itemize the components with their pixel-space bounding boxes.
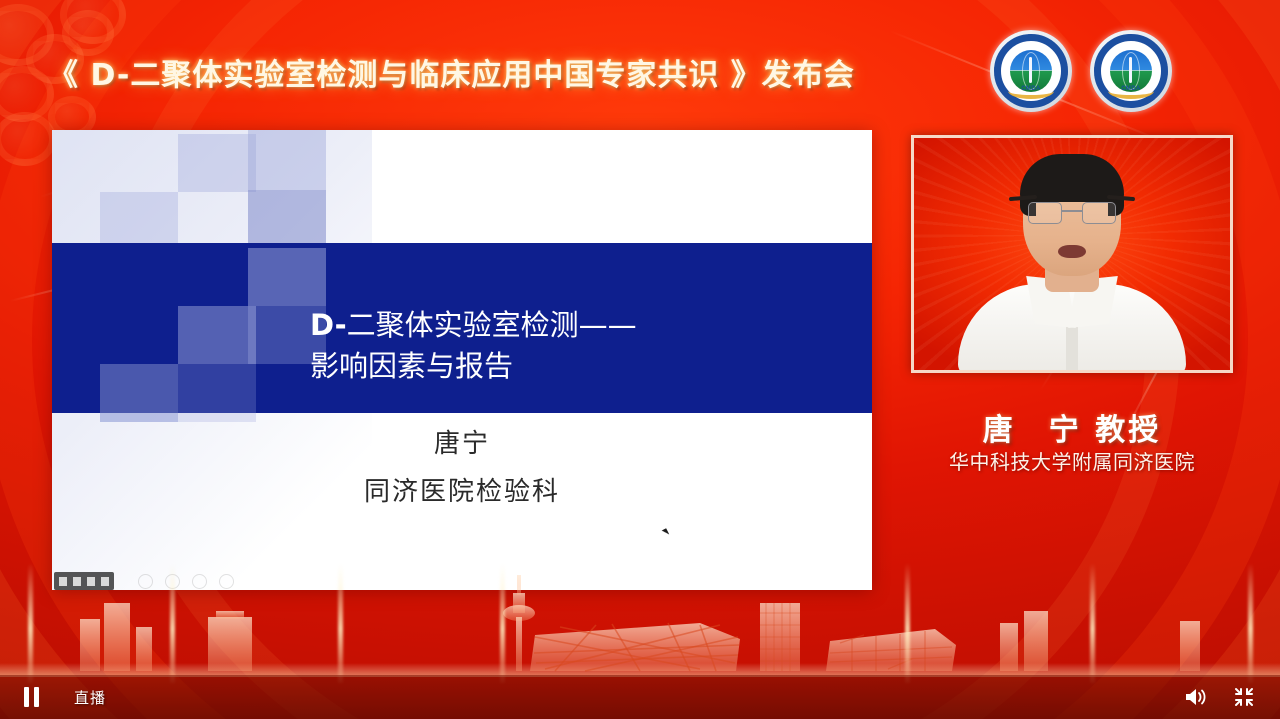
logo-abbr: CMDA bbox=[1090, 86, 1172, 92]
pause-bar-right bbox=[34, 687, 39, 707]
slide-title: D-二聚体实验室检测—— 影响因素与报告 bbox=[310, 305, 850, 387]
stage-light-column bbox=[1090, 563, 1095, 683]
glasses-lens-left bbox=[1028, 202, 1062, 224]
speaker-affiliation: 华中科技大学附属同济医院 bbox=[891, 446, 1253, 475]
slide-presenter-name: 唐宁 bbox=[52, 420, 872, 468]
speaker-mouth bbox=[1058, 245, 1086, 258]
slide-next-icon[interactable] bbox=[87, 577, 95, 586]
slide-prev-icon[interactable] bbox=[73, 577, 81, 586]
serpent-staff-icon bbox=[1029, 57, 1032, 83]
blood-cell-motif bbox=[60, 0, 126, 44]
grid-icon bbox=[165, 574, 180, 589]
speaker-video-panel[interactable] bbox=[911, 135, 1233, 373]
blood-cell-motif bbox=[0, 112, 56, 166]
stage-light-column bbox=[905, 563, 910, 683]
glasses-bridge bbox=[1062, 210, 1082, 212]
deco-square bbox=[248, 130, 326, 190]
slide-title-line-1: D-二聚体实验室检测—— bbox=[310, 305, 850, 346]
presentation-slide[interactable]: D-二聚体实验室检测—— 影响因素与报告 唐宁 同济医院检验科 bbox=[52, 130, 872, 590]
mouse-cursor bbox=[662, 528, 670, 537]
deco-square bbox=[178, 134, 256, 192]
live-status-label: 直播 bbox=[74, 687, 106, 708]
stage-light-column bbox=[1248, 563, 1253, 683]
slide-title-line-1-rest: 二聚体实验室检测—— bbox=[347, 308, 637, 342]
deco-square bbox=[248, 190, 326, 248]
association-logo-left: CMDA bbox=[990, 30, 1072, 112]
zoom-icon bbox=[192, 574, 207, 589]
player-right-controls bbox=[1184, 687, 1264, 707]
deco-square-overlay bbox=[178, 306, 256, 364]
slide-menu-icon[interactable] bbox=[101, 577, 109, 586]
speaker-figure bbox=[947, 160, 1197, 370]
live-stream-stage: 《 D-二聚体实验室检测与临床应用中国专家共识 》发布会 CMDA CMDA bbox=[0, 0, 1280, 719]
slide-thumbnails-icon[interactable] bbox=[59, 577, 67, 586]
deco-square-overlay bbox=[178, 364, 256, 422]
video-player-controls: 直播 bbox=[0, 675, 1280, 719]
ppt-ghost-icon-row bbox=[138, 574, 234, 589]
slide-accent-square bbox=[52, 287, 130, 345]
pause-bar-left bbox=[24, 687, 29, 707]
stage-light-column bbox=[28, 563, 33, 683]
blood-cell-motif bbox=[0, 66, 54, 122]
deco-square-overlay bbox=[100, 364, 178, 422]
speaker-name: 唐 宁 教授 bbox=[911, 405, 1233, 449]
serpent-staff-icon bbox=[1129, 57, 1132, 83]
pen-icon bbox=[138, 574, 153, 589]
logo-row: CMDA CMDA bbox=[990, 30, 1172, 112]
logo-abbr: CMDA bbox=[990, 86, 1072, 92]
association-logo-right: CMDA bbox=[1090, 30, 1172, 112]
volume-icon[interactable] bbox=[1184, 687, 1208, 707]
slide-title-line-2: 影响因素与报告 bbox=[310, 346, 850, 387]
slide-affiliation: 同济医院检验科 bbox=[52, 468, 872, 516]
ppt-presenter-toolbar[interactable] bbox=[54, 572, 114, 590]
slide-subtitle-block: 唐宁 同济医院检验科 bbox=[52, 420, 872, 516]
more-icon bbox=[219, 574, 234, 589]
blood-cell-motif bbox=[0, 4, 54, 66]
exit-fullscreen-icon[interactable] bbox=[1234, 687, 1254, 707]
deco-square-overlay bbox=[248, 248, 326, 306]
deco-square bbox=[100, 192, 178, 250]
pause-button[interactable] bbox=[24, 687, 50, 707]
speaker-glasses bbox=[1028, 202, 1116, 224]
broadcast-title: 《 D-二聚体实验室检测与临床应用中国专家共识 》发布会 bbox=[48, 50, 855, 94]
slide-title-prefix: D- bbox=[310, 308, 347, 342]
glasses-lens-right bbox=[1082, 202, 1116, 224]
